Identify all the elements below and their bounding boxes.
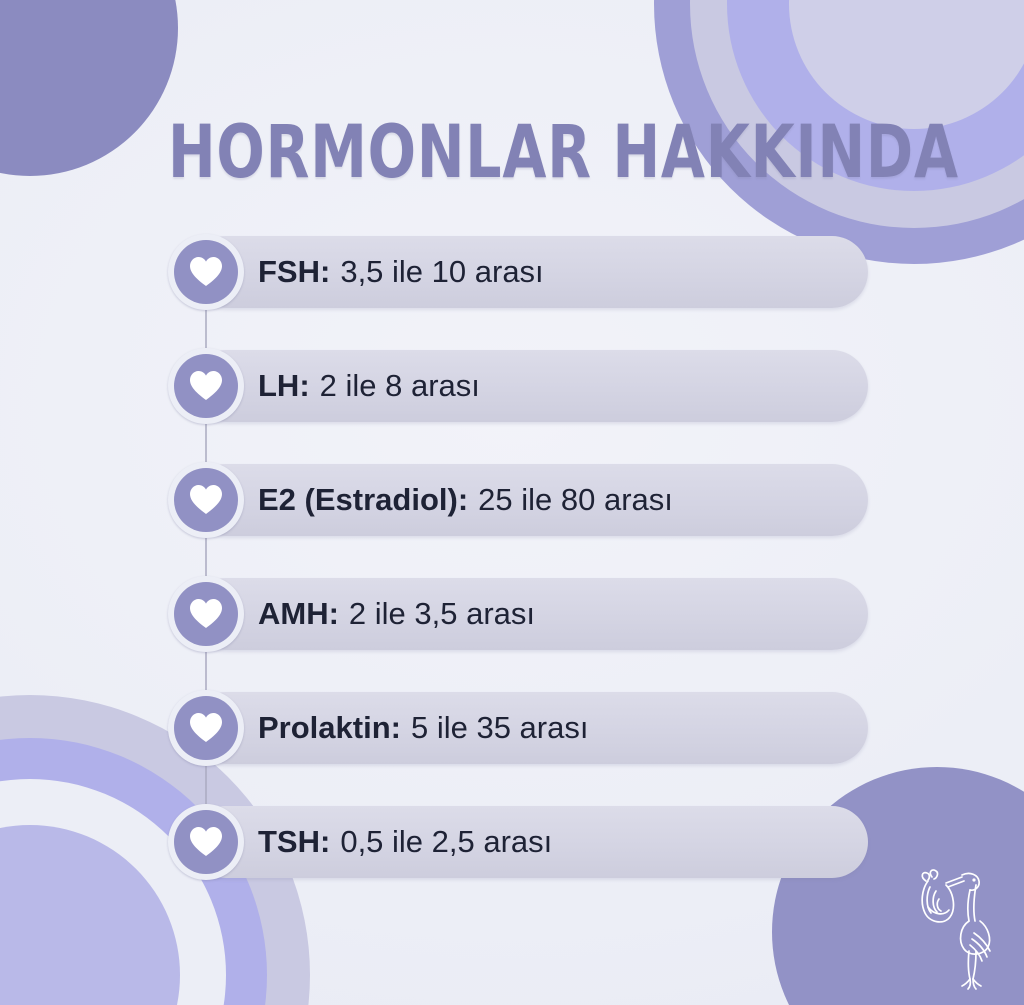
list-item-label: E2 (Estradiol): [258,483,468,517]
heart-icon [174,354,238,418]
list-item-badge [168,234,244,310]
infographic-poster: HORMONLAR HAKKINDA FSH: 3,5 ile 10 arası [0,0,1024,1005]
heart-icon [174,810,238,874]
list-item: TSH: 0,5 ile 2,5 arası [168,804,868,880]
list-item-badge [168,462,244,538]
list-item-badge [168,690,244,766]
list-item: E2 (Estradiol): 25 ile 80 arası [168,462,868,538]
list-item-value: 5 ile 35 arası [411,711,589,745]
list-item: LH: 2 ile 8 arası [168,348,868,424]
list-item: AMH: 2 ile 3,5 arası [168,576,868,652]
list-item-text: LH: 2 ile 8 arası [258,348,480,424]
list-item-value: 0,5 ile 2,5 arası [340,825,552,859]
list-item-value: 3,5 ile 10 arası [340,255,543,289]
list-item-label: LH: [258,369,310,403]
arc-band-4 [0,825,180,1005]
stork-carrying-baby-logo [912,863,1000,993]
list-item-text: E2 (Estradiol): 25 ile 80 arası [258,462,673,538]
list-item-label: AMH: [258,597,339,631]
hormone-list: FSH: 3,5 ile 10 arası LH: 2 ile 8 arası [168,234,868,880]
heart-icon [174,240,238,304]
list-item-label: TSH: [258,825,330,859]
list-item: FSH: 3,5 ile 10 arası [168,234,868,310]
page-title: HORMONLAR HAKKINDA [168,114,730,192]
heart-icon [174,468,238,532]
list-item-text: AMH: 2 ile 3,5 arası [258,576,535,652]
list-item-value: 2 ile 8 arası [320,369,480,403]
list-item-label: FSH: [258,255,330,289]
list-item-badge [168,576,244,652]
heart-icon [174,696,238,760]
list-item-label: Prolaktin: [258,711,401,745]
list-item: Prolaktin: 5 ile 35 arası [168,690,868,766]
list-item-value: 2 ile 3,5 arası [349,597,535,631]
list-item-text: FSH: 3,5 ile 10 arası [258,234,544,310]
list-item-text: TSH: 0,5 ile 2,5 arası [258,804,552,880]
list-item-value: 25 ile 80 arası [478,483,673,517]
top-left-circle-decoration [0,0,178,176]
list-item-badge [168,348,244,424]
list-item-text: Prolaktin: 5 ile 35 arası [258,690,588,766]
list-item-badge [168,804,244,880]
heart-icon [174,582,238,646]
